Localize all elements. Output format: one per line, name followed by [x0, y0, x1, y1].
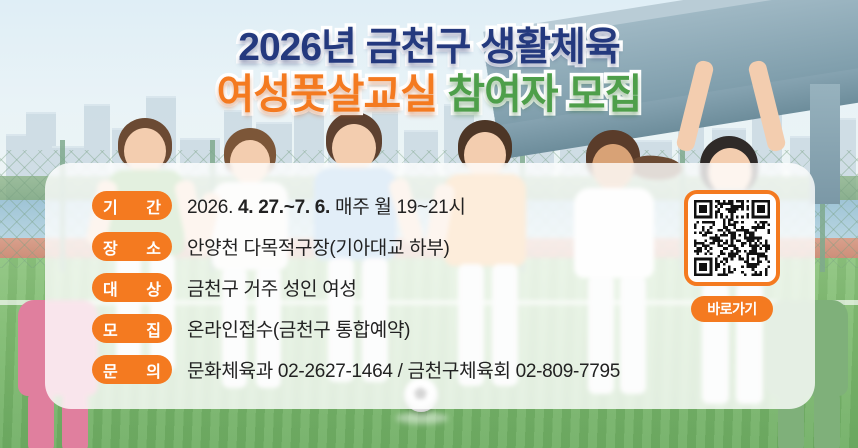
info-row-text: 2026. 4. 27.~7. 6. 매주 월 19~21시 — [187, 192, 466, 219]
info-label-pill: 장소 — [92, 232, 172, 261]
qr-block: 바로가기 — [684, 190, 782, 322]
info-label-char: 대 — [103, 276, 118, 300]
poster-title: 2026년 금천구 생활체육 여성풋살교실 참여자 모집 — [0, 28, 858, 116]
title-line-2: 여성풋살교실 참여자 모집 — [0, 74, 858, 116]
info-row-text: 금천구 거주 성인 여성 — [187, 274, 357, 301]
info-label-char: 간 — [146, 194, 161, 218]
info-label-pill: 대상 — [92, 273, 172, 302]
info-label-char: 기 — [103, 194, 118, 218]
ball-shadow — [396, 412, 448, 424]
info-text-bold: 4. 27.~7. 6. — [238, 197, 330, 218]
info-label-pill: 모집 — [92, 314, 172, 343]
info-text-pre: 안양천 다목적구장(기아대교 하부) — [187, 238, 450, 259]
info-row-list: 기간2026. 4. 27.~7. 6. 매주 월 19~21시장소안양천 다목… — [92, 187, 620, 392]
info-text-pre: 2026. — [187, 197, 238, 218]
info-row-text: 안양천 다목적구장(기아대교 하부) — [187, 233, 450, 260]
info-row-text: 온라인접수(금천구 통합예약) — [187, 315, 410, 342]
title-rest: 참여자 모집 — [447, 71, 641, 117]
qr-code-icon[interactable] — [694, 200, 770, 276]
info-text-pre: 온라인접수(금천구 통합예약) — [187, 320, 410, 341]
info-text-post: 매주 월 19~21시 — [330, 197, 466, 218]
info-row-text: 문화체육과 02-2627-1464 / 금천구체육회 02-809-7795 — [187, 356, 620, 383]
info-label-char: 상 — [146, 276, 161, 300]
info-row: 모집온라인접수(금천구 통합예약) — [92, 310, 620, 347]
title-line-1: 2026년 금천구 생활체육 — [0, 28, 858, 68]
info-label-char: 문 — [103, 358, 118, 382]
info-label-pill: 기간 — [92, 191, 172, 220]
info-text-pre: 문화체육과 02-2627-1464 / 금천구체육회 02-809-7795 — [187, 361, 620, 382]
qr-frame — [684, 190, 780, 286]
info-label-char: 장 — [103, 235, 118, 259]
poster-root: 2026년 금천구 생활체육 여성풋살교실 참여자 모집 기간2026. 4. … — [0, 0, 858, 448]
title-highlight: 여성풋살교실 — [217, 71, 437, 117]
info-row: 문의문화체육과 02-2627-1464 / 금천구체육회 02-809-779… — [92, 351, 620, 388]
info-text-pre: 금천구 거주 성인 여성 — [187, 279, 357, 300]
info-label-char: 소 — [146, 235, 161, 259]
info-row: 기간2026. 4. 27.~7. 6. 매주 월 19~21시 — [92, 187, 620, 224]
go-button[interactable]: 바로가기 — [691, 296, 773, 322]
info-row: 장소안양천 다목적구장(기아대교 하부) — [92, 228, 620, 265]
info-label-char: 집 — [146, 317, 161, 341]
info-row: 대상금천구 거주 성인 여성 — [92, 269, 620, 306]
info-label-char: 의 — [146, 358, 161, 382]
info-label-char: 모 — [103, 317, 118, 341]
info-label-pill: 문의 — [92, 355, 172, 384]
